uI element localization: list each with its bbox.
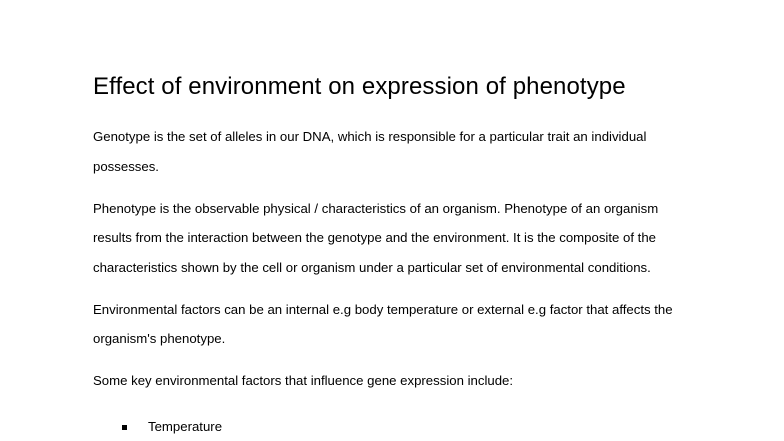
paragraph-environmental-factors: Environmental factors can be an internal… xyxy=(93,295,673,354)
paragraph-phenotype: Phenotype is the observable physical / c… xyxy=(93,194,673,283)
list-item-label: Temperature xyxy=(148,419,222,434)
factors-list: Temperature xyxy=(93,412,673,441)
paragraph-key-factors-intro: Some key environmental factors that infl… xyxy=(93,366,673,396)
page-title: Effect of environment on expression of p… xyxy=(93,72,673,102)
list-item: Temperature xyxy=(93,412,673,441)
document-page: Effect of environment on expression of p… xyxy=(0,0,784,441)
paragraph-genotype: Genotype is the set of alleles in our DN… xyxy=(93,122,673,181)
bullet-square-icon xyxy=(122,425,127,430)
document-body: Effect of environment on expression of p… xyxy=(93,72,673,441)
